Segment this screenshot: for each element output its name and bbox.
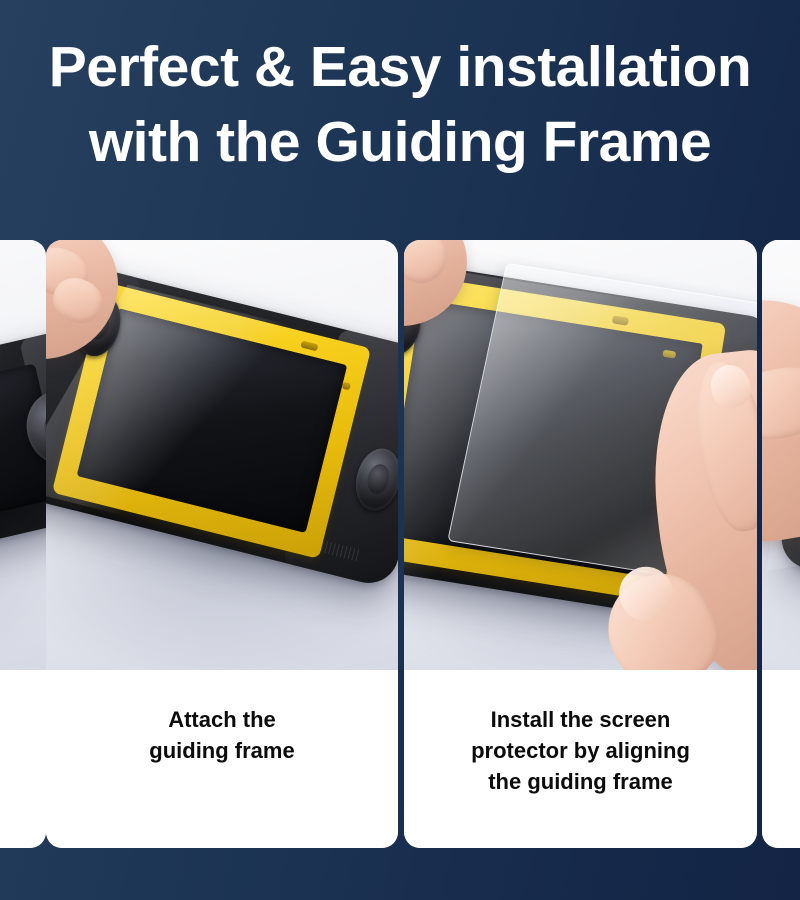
step-4-photo [762,240,800,670]
step-card-1[interactable]: Clean the screen [0,240,46,848]
step-4-caption: Wipe out the bubbles [762,670,800,848]
frame-alignment-notch [341,382,351,390]
photo-scene-2 [46,240,398,670]
step-card-2[interactable]: Attach the guiding frame [46,240,398,848]
step-3-caption: Install the screen protector by aligning… [404,670,757,848]
photo-scene-1 [0,240,46,670]
page-title: Perfect & Easy installation with the Gui… [0,30,800,180]
step-2-photo [46,240,398,670]
index-finger [762,359,800,448]
banner-header: Perfect & Easy installation with the Gui… [0,0,800,240]
promo-banner: Perfect & Easy installation with the Gui… [0,0,800,900]
page-title-line-1: Perfect & Easy installation [0,30,800,105]
step-1-photo [0,240,46,670]
steps-card-strip: Clean the screen [0,240,800,848]
page-title-line-2: with the Guiding Frame [0,105,800,180]
step-2-caption-text: Attach the guiding frame [135,704,308,766]
step-card-4[interactable]: Wipe out the bubbles [762,240,800,848]
photo-scene-3 [404,240,757,670]
step-3-photo [404,240,757,670]
step-1-caption: Clean the screen [0,670,46,848]
step-3-caption-text: Install the screen protector by aligning… [457,704,704,797]
photo-scene-4 [762,240,800,670]
step-2-caption: Attach the guiding frame [46,670,398,848]
step-card-3[interactable]: Install the screen protector by aligning… [404,240,757,848]
